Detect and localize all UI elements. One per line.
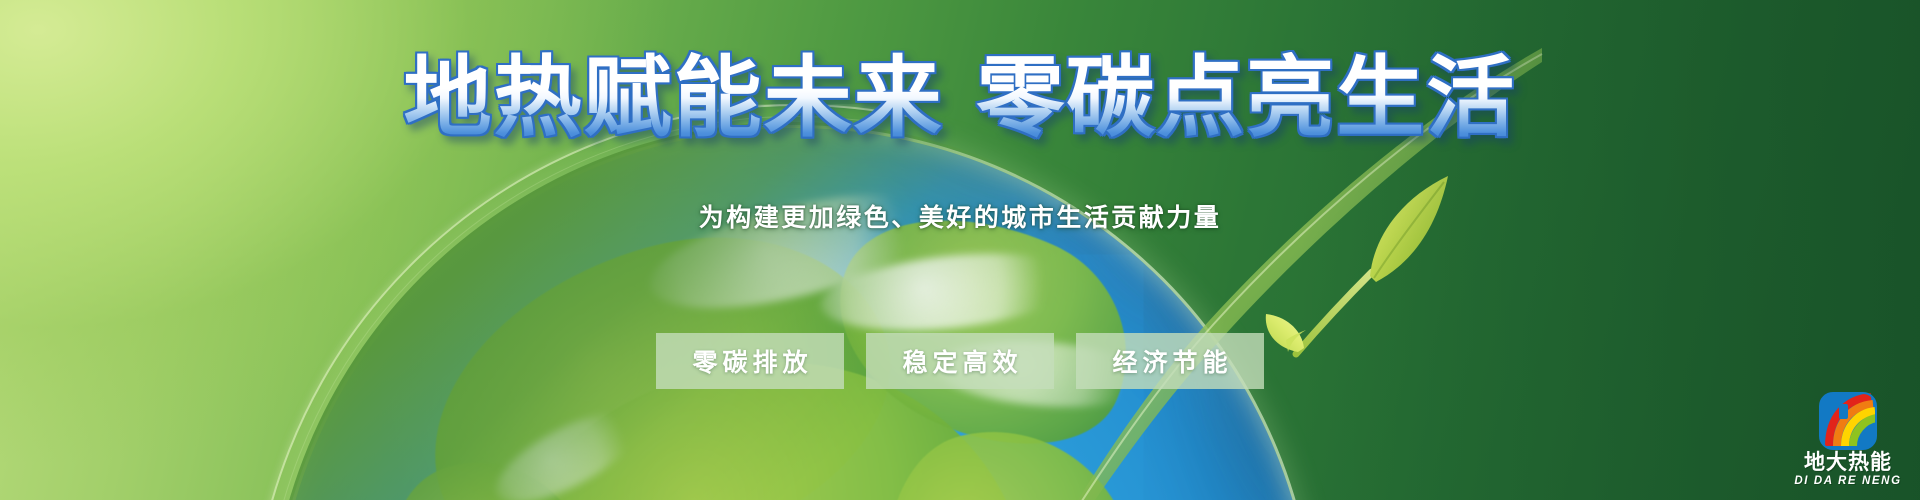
promo-banner: 地热赋能未来 零碳点亮生活 为构建更加绿色、美好的城市生活贡献力量 零碳排放 稳… bbox=[0, 0, 1920, 500]
curved-arc-highlight-secondary bbox=[262, 116, 1330, 500]
brand-logo[interactable]: 地大热能 DI DA RE NENG bbox=[1782, 392, 1914, 498]
earth-globe-image bbox=[274, 128, 1314, 500]
page-subtitle: 为构建更加绿色、美好的城市生活贡献力量 bbox=[0, 198, 1920, 234]
logo-name-cn: 地大热能 bbox=[1782, 452, 1914, 473]
globe-sphere bbox=[274, 128, 1314, 500]
globe-landmass bbox=[354, 430, 633, 500]
page-title: 地热赋能未来 零碳点亮生活 bbox=[0, 52, 1920, 144]
globe-green-blend-overlay bbox=[268, 122, 1320, 500]
didareneng-rainbow-logo-icon bbox=[1819, 392, 1877, 450]
feature-badge-group: 零碳排放 稳定高效 经济节能 bbox=[0, 333, 1920, 389]
globe-cloud bbox=[817, 243, 1083, 342]
feature-badge-economical[interactable]: 经济节能 bbox=[1076, 333, 1264, 389]
globe-cloud bbox=[484, 394, 653, 500]
globe-cloud bbox=[640, 171, 953, 331]
globe-landmass bbox=[853, 402, 1168, 500]
globe-atmosphere-rim bbox=[271, 125, 1317, 500]
curved-arc-highlight bbox=[250, 104, 1344, 500]
feature-badge-stable-efficient[interactable]: 稳定高效 bbox=[866, 333, 1054, 389]
logo-name-en: DI DA RE NENG bbox=[1782, 476, 1914, 488]
feature-badge-zero-carbon[interactable]: 零碳排放 bbox=[656, 333, 844, 389]
